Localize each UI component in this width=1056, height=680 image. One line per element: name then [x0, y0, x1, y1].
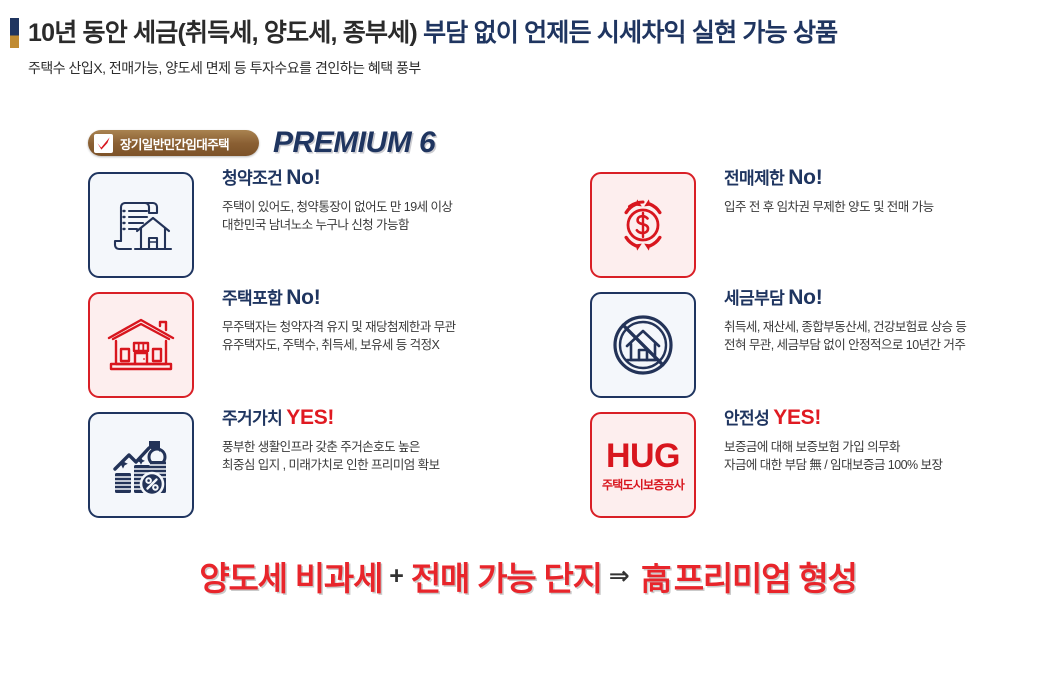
footer-banner: 양도세 비과세 + 전매 가능 단지 ⇒ 高 프리미엄 형성 [0, 552, 1056, 600]
card-desc-line: 보증금에 대해 보증보험 가입 의무화 [724, 438, 1056, 456]
feature-column-right: 전매제한 No! 입주 전 후 임차권 무제한 양도 및 전매 가능 [590, 166, 1056, 526]
card-desc-line: 대한민국 남녀노소 누구나 신청 가능함 [222, 216, 558, 234]
card-title-ko: 세금부담 [724, 289, 784, 308]
infographic-page: 10년 동안 세금(취득세, 양도세, 종부세) 부담 없이 언제든 시세차익 … [0, 0, 1056, 680]
card-description: 주택이 있어도, 청약통장이 없어도 만 19세 이상 대한민국 남녀노소 누구… [222, 198, 558, 234]
card-title: 세금부담 No! [724, 286, 1056, 311]
card-title: 주거가치 YES! [222, 406, 558, 431]
card-title: 청약조건 No! [222, 166, 558, 191]
card-title-emphasis: No! [788, 166, 822, 189]
badge-row: 장기일반민간임대주택 PREMIUM 6 [88, 126, 435, 160]
card-desc-line: 유주택자도, 주택수, 취득세, 보유세 등 걱정X [222, 336, 558, 354]
scroll-house-icon [88, 172, 194, 278]
footer-segment-2: 전매 가능 단지 [411, 552, 602, 600]
card-title-emphasis: YES! [286, 406, 334, 429]
card-title-emphasis: YES! [773, 406, 821, 429]
card-description: 풍부한 생활인프라 갖춘 주거손호도 높은 최중심 입지 , 미래가치로 인한 … [222, 438, 558, 474]
footer-segment-1: 양도세 비과세 [199, 552, 382, 600]
growth-chart-coins-icon [88, 412, 194, 518]
feature-card: HUG 주택도시보증공사 안전성 YES! 보증금에 대해 보증보험 가입 의무… [590, 406, 1056, 526]
card-desc-line: 취득세, 재산세, 종합부동산세, 건강보험료 상승 등 [724, 318, 1056, 336]
hug-logo-text: HUG [602, 439, 684, 473]
footer-hanja-high: 高 [641, 554, 672, 599]
card-title-ko: 전매제한 [724, 169, 784, 188]
title-marker-icon [10, 18, 19, 48]
card-title-ko: 청약조건 [222, 169, 282, 188]
card-desc-line: 자금에 대한 부담 無 / 임대보증금 100% 보장 [724, 456, 1056, 474]
card-title-emphasis: No! [286, 166, 320, 189]
card-title: 안전성 YES! [724, 406, 1056, 431]
feature-card: 주택포함 No! 무주택자는 청약자격 유지 및 재당첨제한과 무관 유주택자도… [88, 286, 558, 406]
dollar-recycle-icon [590, 172, 696, 278]
card-desc-line: 입주 전 후 임차권 무제한 양도 및 전매 가능 [724, 198, 1056, 216]
card-desc-line: 무주택자는 청약자격 유지 및 재당첨제한과 무관 [222, 318, 558, 336]
title-segment-plain: 10년 동안 세금(취득세, 양도세, 종부세) [28, 19, 417, 47]
housing-type-badge: 장기일반민간임대주택 [88, 130, 259, 156]
feature-card: 전매제한 No! 입주 전 후 임차권 무제한 양도 및 전매 가능 [590, 166, 1056, 286]
no-house-icon [590, 292, 696, 398]
feature-card: 세금부담 No! 취득세, 재산세, 종합부동산세, 건강보험료 상승 등 전혀… [590, 286, 1056, 406]
card-title-ko: 주택포함 [222, 289, 282, 308]
card-description: 보증금에 대해 보증보험 가입 의무화 자금에 대한 부담 無 / 임대보증금 … [724, 438, 1056, 474]
card-desc-line: 최중심 입지 , 미래가치로 인한 프리미엄 확보 [222, 456, 558, 474]
card-description: 무주택자는 청약자격 유지 및 재당첨제한과 무관 유주택자도, 주택수, 취득… [222, 318, 558, 354]
card-title-ko: 안전성 [724, 409, 769, 428]
card-title-emphasis: No! [788, 286, 822, 309]
card-description: 입주 전 후 임차권 무제한 양도 및 전매 가능 [724, 198, 1056, 216]
title-segment-accent: 부담 없이 언제든 시세차익 실현 가능 상품 [423, 19, 837, 47]
card-desc-line: 전혀 무관, 세금부담 없이 안정적으로 10년간 거주 [724, 336, 1056, 354]
card-title-emphasis: No! [286, 286, 320, 309]
premium-title: PREMIUM 6 [273, 126, 435, 160]
card-description: 취득세, 재산세, 종합부동산세, 건강보험료 상승 등 전혀 무관, 세금부담… [724, 318, 1056, 354]
footer-operator-arrow: ⇒ [609, 561, 630, 591]
hug-logo: HUG 주택도시보증공사 [590, 412, 696, 518]
house-icon [88, 292, 194, 398]
feature-card: 주거가치 YES! 풍부한 생활인프라 갖춘 주거손호도 높은 최중심 입지 ,… [88, 406, 558, 526]
feature-card: 청약조건 No! 주택이 있어도, 청약통장이 없어도 만 19세 이상 대한민… [88, 166, 558, 286]
footer-operator-plus: + [389, 562, 404, 591]
footer-segment-3: 프리미엄 형성 [674, 552, 857, 600]
check-icon [94, 134, 113, 153]
card-desc-line: 주택이 있어도, 청약통장이 없어도 만 19세 이상 [222, 198, 558, 216]
header: 10년 동안 세금(취득세, 양도세, 종부세) 부담 없이 언제든 시세차익 … [0, 0, 1056, 98]
page-subtitle: 주택수 산입X, 전매가능, 양도세 면제 등 투자수요를 견인하는 혜택 풍부 [28, 58, 421, 78]
hug-logo-subtext: 주택도시보증공사 [602, 479, 684, 491]
card-title: 전매제한 No! [724, 166, 1056, 191]
card-desc-line: 풍부한 생활인프라 갖춘 주거손호도 높은 [222, 438, 558, 456]
page-title: 10년 동안 세금(취득세, 양도세, 종부세) 부담 없이 언제든 시세차익 … [10, 18, 837, 48]
card-title: 주택포함 No! [222, 286, 558, 311]
card-title-ko: 주거가치 [222, 409, 282, 428]
badge-label: 장기일반민간임대주택 [120, 134, 229, 153]
feature-column-left: 청약조건 No! 주택이 있어도, 청약통장이 없어도 만 19세 이상 대한민… [88, 166, 558, 526]
